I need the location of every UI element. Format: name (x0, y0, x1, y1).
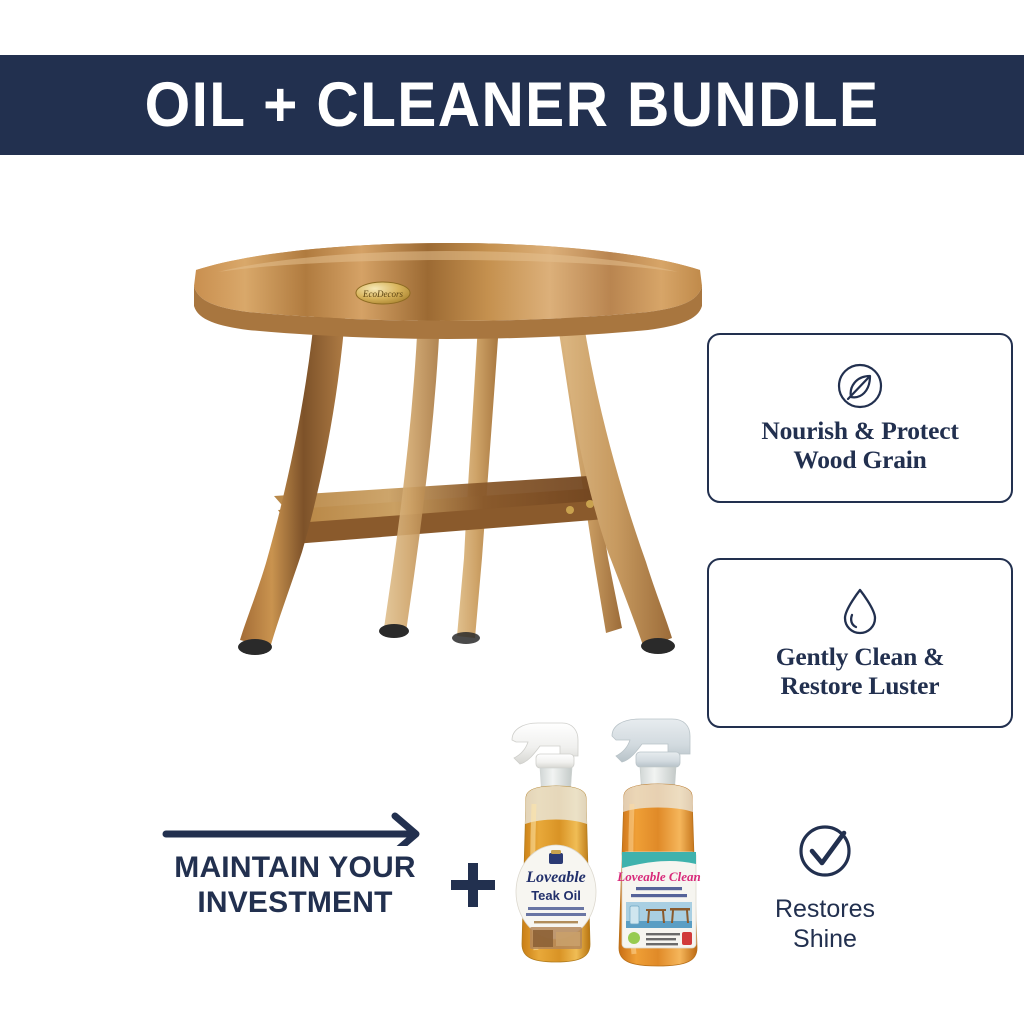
restores-shine-block: Restores Shine (740, 818, 910, 954)
feature-2-line-2: Restore Luster (781, 671, 940, 700)
shine-line-2: Shine (793, 925, 857, 953)
oil-label-brand: Loveable (525, 869, 586, 886)
feature-2-line-1: Gently Clean & (776, 642, 945, 671)
spray-bottles-image: Loveable Teak Oil L (500, 712, 732, 990)
oil-label-crest (549, 850, 563, 864)
brand-badge: EcoDecors (356, 282, 410, 304)
water-droplet-icon (837, 585, 883, 637)
plus-icon (449, 861, 497, 909)
wood-cleaner-spray-bottle: Loveable Clean (612, 719, 701, 966)
feature-1-line-2: Wood Grain (793, 445, 926, 474)
check-circle-icon (794, 818, 856, 880)
product-marketing-image: OIL + CLEANER BUNDLE (0, 0, 1024, 1024)
feature-1-line-1: Nourish & Protect (761, 416, 958, 445)
feature-card-gently-clean[interactable]: Gently Clean & Restore Luster (707, 558, 1013, 728)
right-arrow-icon (150, 812, 430, 846)
banner-title: OIL + CLEANER BUNDLE (145, 74, 880, 137)
feature-card-nourish-protect[interactable]: Nourish & Protect Wood Grain (707, 333, 1013, 503)
teak-shower-stool-image: EcoDecors (178, 228, 718, 688)
cleaner-label-brand: Loveable Clean (616, 869, 700, 884)
teak-oil-spray-bottle: Loveable Teak Oil (512, 723, 596, 962)
maintain-investment-block: MAINTAIN YOUR INVESTMENT (150, 812, 440, 921)
shine-line-1: Restores (775, 895, 875, 923)
header-banner: OIL + CLEANER BUNDLE (0, 55, 1024, 155)
stool-seat (194, 243, 702, 339)
stool-lower-shelf (274, 476, 618, 544)
maintain-line-1: MAINTAIN YOUR (174, 851, 416, 884)
leaf-in-circle-icon (835, 361, 885, 411)
svg-text:EcoDecors: EcoDecors (362, 289, 403, 299)
oil-label-product: Teak Oil (531, 888, 581, 903)
maintain-line-2: INVESTMENT (197, 886, 392, 919)
